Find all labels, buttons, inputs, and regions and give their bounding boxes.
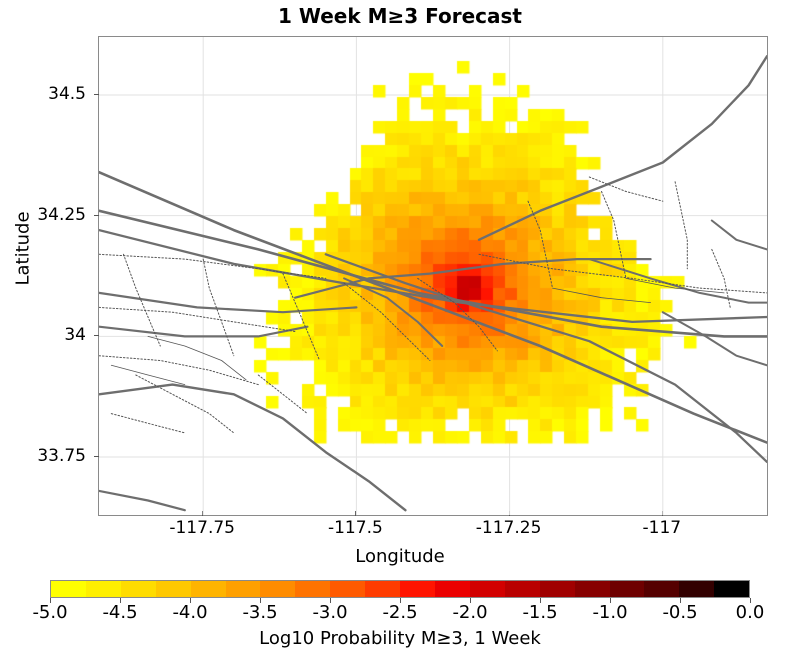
colorbar-segment [644,581,679,597]
colorbar-segment [191,581,226,597]
x-tick-label: -117 [643,518,682,538]
colorbar-tick-label: 0.0 [736,602,765,623]
x-axis-title: Longitude [0,546,800,567]
colorbar-tick-label: -2.0 [452,602,487,623]
colorbar-segment [156,581,191,597]
colorbar-tick-label: -4.5 [102,602,137,623]
colorbar-tick-label: -4.0 [172,602,207,623]
colorbar-tick-label: -3.0 [312,602,347,623]
earthquake-forecast-figure: 1 Week M≥3 Forecast -117.75-117.5-117.25… [0,0,800,662]
y-axis-title: Latitude [13,189,34,309]
colorbar-segment [260,581,295,597]
colorbar-segment [505,581,540,597]
colorbar-segment [714,581,749,597]
map-plot-area[interactable] [98,36,768,516]
colorbar-segment [679,581,714,597]
fault-and-boundary-overlay [99,37,767,515]
colorbar-tick-label: -1.0 [592,602,627,623]
colorbar-segment [86,581,121,597]
colorbar[interactable] [50,580,750,598]
colorbar-title: Log10 Probability M≥3, 1 Week [0,628,800,649]
colorbar-segment [295,581,330,597]
colorbar-segment [540,581,575,597]
colorbar-tick-label: -0.5 [662,602,697,623]
colorbar-segment [51,581,86,597]
colorbar-tick-label: -1.5 [522,602,557,623]
colorbar-segment [365,581,400,597]
x-tick-label: -117.25 [476,518,542,538]
y-tick-label: 34.5 [0,84,86,104]
colorbar-tick-label: -2.5 [382,602,417,623]
y-tick-label: 33.75 [0,446,86,466]
x-tick-label: -117.75 [169,518,235,538]
y-tick-label: 34 [0,325,86,345]
colorbar-tick-label: -5.0 [32,602,67,623]
colorbar-segment [470,581,505,597]
colorbar-segment [610,581,645,597]
colorbar-segment [400,581,435,597]
colorbar-segment [121,581,156,597]
x-tick-label: -117.5 [328,518,383,538]
colorbar-segment [575,581,610,597]
colorbar-tick-label: -3.5 [242,602,277,623]
colorbar-segment [435,581,470,597]
colorbar-segment [226,581,261,597]
chart-title: 1 Week M≥3 Forecast [0,4,800,28]
colorbar-segment [330,581,365,597]
